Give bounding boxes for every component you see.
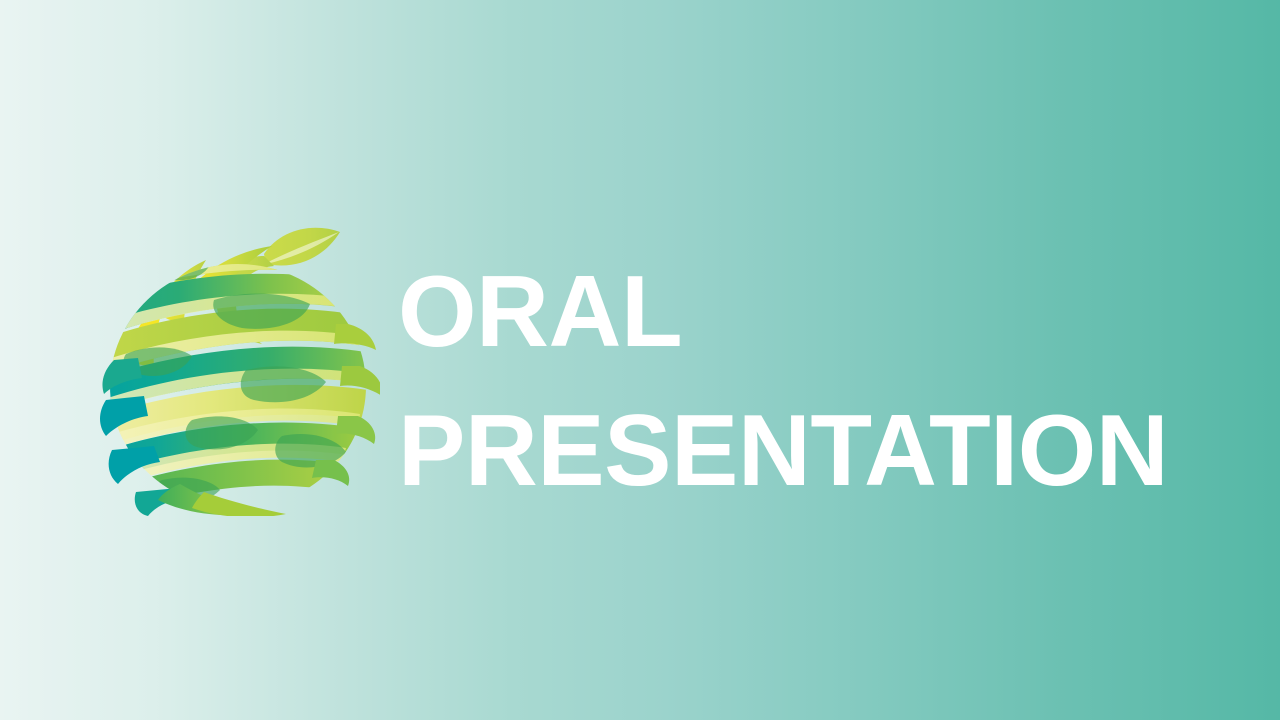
slide-title: ORAL PRESENTATION — [398, 243, 1198, 522]
presentation-slide: ORAL PRESENTATION — [0, 0, 1280, 720]
title-line-oral: ORAL — [398, 243, 1198, 382]
title-line-presentation: PRESENTATION — [398, 382, 1198, 521]
globe-ribbon-leaf-logo — [96, 204, 380, 516]
leaf-shape — [264, 228, 340, 266]
